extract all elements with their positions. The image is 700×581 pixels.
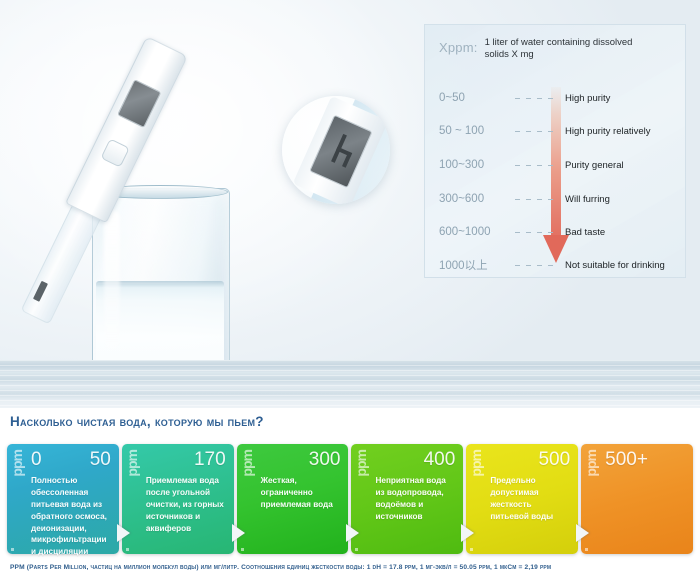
ppm-range-values: 400 xyxy=(375,450,455,471)
ppm-card-description: Неприятная вода из водопровода, водоёмов… xyxy=(375,475,455,523)
card-corner-mark xyxy=(585,548,588,551)
ppm-card-list: ppm 0 50 Полностью обессоленная питьевая… xyxy=(7,444,693,554)
page-root: Xppm: 1 liter of water containing dissol… xyxy=(0,0,700,581)
card-connector-arrow-icon xyxy=(346,524,359,542)
ppm-unit-label: ppm xyxy=(354,450,368,477)
ppm-card-description: Полностью обессоленная питьевая вода из … xyxy=(31,475,111,558)
ppm-row: 0~50 High purity xyxy=(425,89,687,107)
card-corner-mark xyxy=(241,548,244,551)
ppm-quality-label: Not suitable for drinking xyxy=(565,260,687,271)
leader-dots xyxy=(515,199,559,200)
ppm-row: 50 ~ 100 High purity relatively xyxy=(425,122,687,140)
ppm-value-high: 300 xyxy=(309,450,341,469)
ppm-range: 50 ~ 100 xyxy=(425,125,509,137)
card-connector-arrow-icon xyxy=(461,524,474,542)
leader-dots xyxy=(515,98,559,99)
ppm-range-values: 170 xyxy=(146,450,226,471)
leader-dots xyxy=(515,265,559,266)
leader-dots xyxy=(515,165,559,166)
glass-highlight xyxy=(104,210,120,350)
ppm-range-values: 500+ xyxy=(605,450,685,471)
ppm-range-values: 300 xyxy=(261,450,341,471)
ppm-row: 300~600 Will furring xyxy=(425,190,687,208)
ppm-unit-label: ppm xyxy=(584,450,598,477)
ppm-quality-label: Will furring xyxy=(565,194,687,205)
hero-product-photo: Xppm: 1 liter of water containing dissol… xyxy=(0,0,700,408)
infographic-footnote: PPM (Parts Per Million, частиц на миллио… xyxy=(10,564,692,571)
water-purity-infographic: Насколько чистая вода, которую мы пьем? … xyxy=(0,408,700,581)
ppm-value-high: 400 xyxy=(424,450,456,469)
ppm-range-values: 0 50 xyxy=(31,450,111,471)
magnifier-callout xyxy=(282,96,390,204)
ppm-quality-label: Purity general xyxy=(565,160,687,171)
ppm-value-high: 50 xyxy=(90,450,111,469)
card-connector-arrow-icon xyxy=(576,524,589,542)
ppm-range: 300~600 xyxy=(425,193,509,205)
ppm-value-high: 500 xyxy=(538,450,570,469)
card-corner-mark xyxy=(470,548,473,551)
ppm-unit-label: ppm xyxy=(469,450,483,477)
ppm-quality-label: High purity relatively xyxy=(565,126,687,137)
ppm-range: 1000以上 xyxy=(425,257,509,273)
card-corner-mark xyxy=(11,548,14,551)
ppm-range: 0~50 xyxy=(425,92,509,104)
ppm-range: 100~300 xyxy=(425,159,509,171)
quality-arrow xyxy=(543,87,569,269)
ppm-card[interactable]: ppm 0 50 Полностью обессоленная питьевая… xyxy=(7,444,119,554)
ppm-range-values: 500 xyxy=(490,450,570,471)
ppm-row: 1000以上 Not suitable for drinking xyxy=(425,256,687,274)
ppm-card-description: Жесткая, ограниченно приемлемая вода xyxy=(261,475,341,511)
ppm-unit-label: ppm xyxy=(10,450,24,477)
ppm-row: 600~1000 Bad taste xyxy=(425,223,687,241)
card-corner-mark xyxy=(126,548,129,551)
xppm-description: 1 liter of water containing dissolved so… xyxy=(485,37,635,62)
card-connector-arrow-icon xyxy=(117,524,130,542)
ppm-range: 600~1000 xyxy=(425,226,509,238)
water-surface xyxy=(0,360,700,408)
xppm-label: Xppm: xyxy=(439,37,478,55)
infographic-title: Насколько чистая вода, которую мы пьем? xyxy=(10,414,264,429)
ppm-card[interactable]: ppm 400 Неприятная вода из водопровода, … xyxy=(351,444,463,554)
ppm-card[interactable]: ppm 500+ xyxy=(581,444,693,554)
ppm-card-description: Предельно допустимая жесткость питьевой … xyxy=(490,475,570,523)
card-connector-arrow-icon xyxy=(232,524,245,542)
ppm-card[interactable]: ppm 170 Приемлемая вода после угольной о… xyxy=(122,444,234,554)
ppm-unit-label: ppm xyxy=(240,450,254,477)
ppm-quality-label: Bad taste xyxy=(565,227,687,238)
water-ripples xyxy=(0,360,700,408)
ppm-card-description: Приемлемая вода после угольной очистки, … xyxy=(146,475,226,534)
ppm-quality-label: High purity xyxy=(565,93,687,104)
ppm-row: 100~300 Purity general xyxy=(425,156,687,174)
ppm-reference-panel: Xppm: 1 liter of water containing dissol… xyxy=(424,24,686,278)
ppm-value-low: 0 xyxy=(31,450,42,469)
ppm-card[interactable]: ppm 500 Предельно допустимая жесткость п… xyxy=(466,444,578,554)
panel-header: Xppm: 1 liter of water containing dissol… xyxy=(439,37,635,62)
leader-dots xyxy=(515,232,559,233)
leader-dots xyxy=(515,131,559,132)
ppm-value-high: 170 xyxy=(194,450,226,469)
ppm-value-low: 500+ xyxy=(605,450,648,469)
ppm-card[interactable]: ppm 300 Жесткая, ограниченно приемлемая … xyxy=(237,444,349,554)
ppm-unit-label: ppm xyxy=(125,450,139,477)
card-corner-mark xyxy=(355,548,358,551)
